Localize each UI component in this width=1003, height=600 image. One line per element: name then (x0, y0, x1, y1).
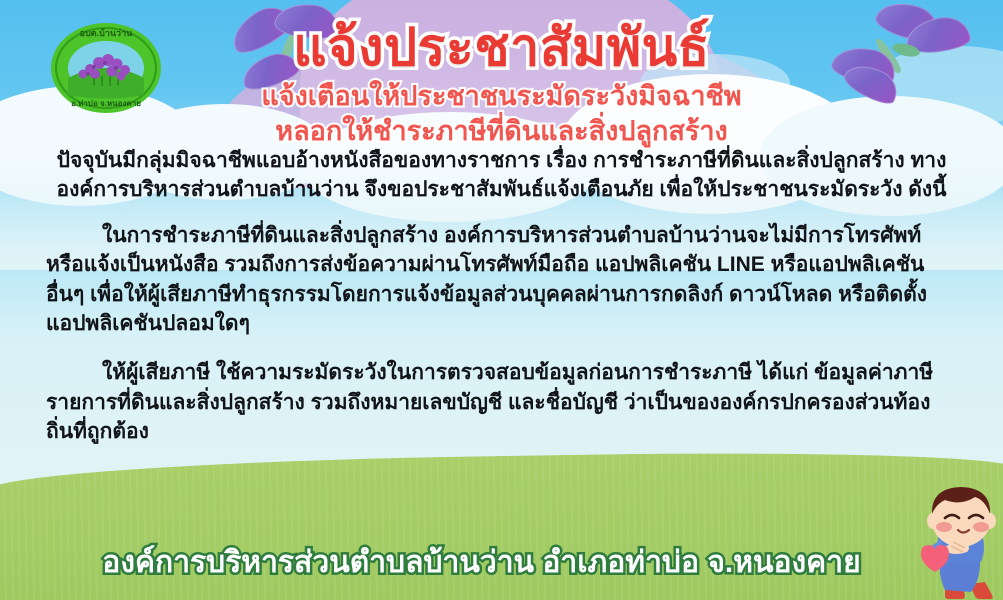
announcement-poster: อบต.บ้านว่าน อ.ท่าบ่อ จ.หนองคาย แจ้งประช… (0, 0, 1003, 600)
subtitle-line-2: หลอกให้ชำระภาษีที่ดินและสิ่งปลูกสร้าง (0, 115, 1003, 149)
paragraph-2: ในการชำระภาษีที่ดินและสิ่งปลูกสร้าง องค์… (0, 221, 1003, 339)
paragraph-3: ให้ผู้เสียภาษี ใช้ความระมัดระวังในการตรว… (0, 358, 1003, 446)
body-copy: ปัจจุบันมีกลุ่มมิจฉาชีพแอบอ้างหนังสือของ… (0, 146, 1003, 447)
municipality-seal-logo: อบต.บ้านว่าน อ.ท่าบ่อ จ.หนองคาย (50, 22, 162, 114)
mascot-boy-wai-icon (849, 480, 999, 600)
logo-ring-text-top: อบต.บ้านว่าน (80, 28, 133, 38)
logo-ring-text-bottom: อ.ท่าบ่อ จ.หนองคาย (71, 99, 141, 108)
paragraph-3-text: ให้ผู้เสียภาษี ใช้ความระมัดระวังในการตรว… (46, 361, 933, 443)
paragraph-1: ปัจจุบันมีกลุ่มมิจฉาชีพแอบอ้างหนังสือของ… (0, 146, 1003, 205)
paragraph-2-text: ในการชำระภาษีที่ดินและสิ่งปลูกสร้าง องค์… (46, 224, 927, 335)
